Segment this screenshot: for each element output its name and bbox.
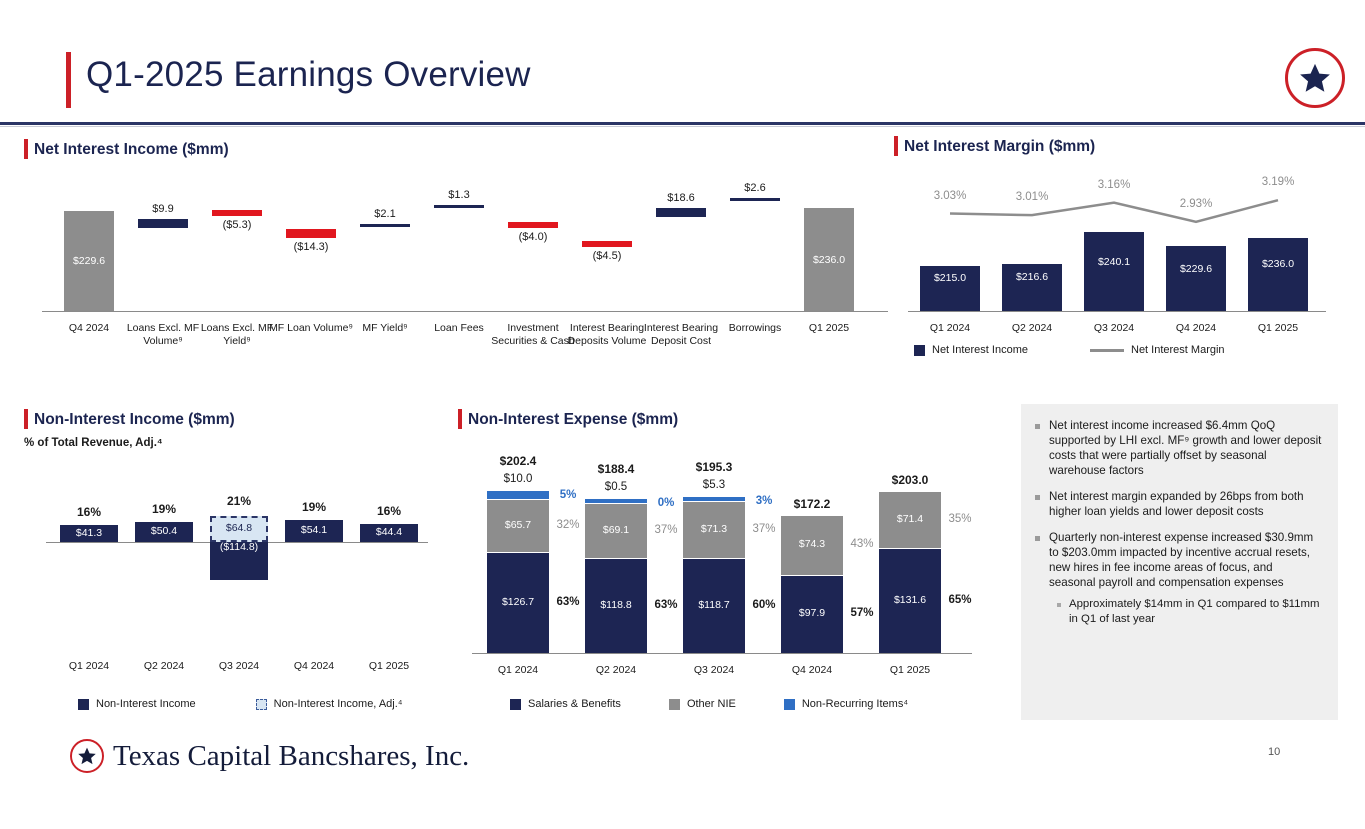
commentary-panel: Net interest income increased $6.4mm QoQ…	[1021, 404, 1338, 720]
nii-accent	[24, 139, 28, 159]
nii-bar-delta	[434, 205, 484, 208]
navy-swatch-icon	[78, 699, 89, 710]
nim-bar	[1166, 246, 1226, 311]
nie-category-label: Q4 2024	[767, 664, 857, 677]
nie-legend-label: Other NIE	[687, 698, 736, 710]
non-interest-income-title: Non-Interest Income ($mm)	[34, 411, 235, 429]
nie-pct-nonrecurring: 0%	[649, 497, 683, 509]
nii-bar-delta	[286, 229, 336, 238]
nie-seg-nonrecurring	[487, 491, 549, 499]
nie-seg-value: $65.7	[487, 519, 549, 531]
commentary-bullet: Net interest income increased $6.4mm QoQ…	[1035, 418, 1322, 478]
nie-category-label: Q1 2024	[473, 664, 563, 677]
nie-total-label: $202.4	[477, 454, 559, 468]
nie-nonrecurring-label: $5.3	[675, 479, 753, 491]
nim-bar-value: $236.0	[1248, 258, 1308, 270]
nim-bar-value: $216.6	[1002, 271, 1062, 283]
nii2-category-label: Q2 2024	[127, 660, 201, 673]
nii-delta-label: ($4.0)	[498, 231, 568, 243]
nim-margin-label: 2.93%	[1158, 198, 1234, 210]
nii2-legend-label: Non-Interest Income, Adj.⁴	[274, 698, 403, 710]
nie-pct-salaries: 63%	[649, 599, 683, 611]
nii2-legend-label: Non-Interest Income	[96, 698, 196, 710]
nim-axis	[908, 311, 1326, 312]
gray-line-icon	[1090, 349, 1124, 352]
nie-category-label: Q1 2025	[865, 664, 955, 677]
nie-total-label: $203.0	[869, 473, 951, 487]
nii-section-title: Net Interest Income ($mm)	[34, 141, 229, 159]
nii2-pct-label: 21%	[210, 494, 268, 508]
nie-nonrecurring-label: $10.0	[479, 473, 557, 485]
nii2-category-label: Q3 2024	[202, 660, 276, 673]
commentary-bullet-text: Net interest income increased $6.4mm QoQ…	[1049, 418, 1322, 478]
title-accent-bar	[66, 52, 71, 108]
nie-legend: Salaries & BenefitsOther NIENon-Recurrin…	[510, 698, 934, 710]
nie-seg-value: $71.4	[879, 513, 941, 525]
nie-pct-salaries: 57%	[845, 607, 879, 619]
nim-category-label: Q1 2024	[912, 322, 988, 335]
nie-category-label: Q3 2024	[669, 664, 759, 677]
nii-bar-delta	[360, 224, 410, 227]
nie-seg-nonrecurring	[683, 497, 745, 501]
nim-category-label: Q3 2024	[1076, 322, 1152, 335]
header-divider-light	[0, 126, 1365, 127]
nie-seg-nonrecurring	[585, 499, 647, 503]
nii-delta-label: $9.9	[128, 203, 198, 215]
nii2-legend-item: Non-Interest Income	[78, 698, 196, 710]
nii-axis	[42, 311, 888, 312]
nie-legend-item: Non-Recurring Items⁴	[784, 698, 908, 710]
nii-bar-delta	[730, 198, 780, 201]
nii-delta-label: $2.6	[720, 182, 790, 194]
nie-pct-other: 32%	[551, 519, 585, 531]
nii2-category-label: Q4 2024	[277, 660, 351, 673]
nie-category-label: Q2 2024	[571, 664, 661, 677]
nii2-legend-item-adj: Non-Interest Income, Adj.⁴	[256, 698, 403, 710]
nie-pct-other: 35%	[943, 513, 977, 525]
nie-legend-label: Non-Recurring Items⁴	[802, 698, 908, 710]
slide: Q1-2025 Earnings Overview Net Interest I…	[0, 0, 1365, 829]
bullet-marker-icon	[1035, 424, 1040, 429]
nii-delta-label: $2.1	[350, 208, 420, 220]
nie-seg-value: $71.3	[683, 523, 745, 535]
nii2-legend: Non-Interest IncomeNon-Interest Income, …	[78, 698, 429, 710]
nie-total-label: $172.2	[771, 497, 853, 511]
nim-legend-item-income: Net Interest Income	[914, 344, 1028, 356]
nie-legend-label: Salaries & Benefits	[528, 698, 621, 710]
nii-delta-label: $1.3	[424, 189, 494, 201]
nii-category-label: Q1 2025	[786, 322, 872, 335]
nim-category-label: Q1 2025	[1240, 322, 1316, 335]
non-interest-income-subtitle: % of Total Revenue, Adj.⁴	[24, 437, 163, 449]
nii2-pct-label: 16%	[60, 505, 118, 519]
nie-pct-salaries: 60%	[747, 599, 781, 611]
commentary-bullets: Net interest income increased $6.4mm QoQ…	[1021, 404, 1338, 627]
nii-delta-label: ($5.3)	[202, 219, 272, 231]
commentary-bullet-text: Net interest margin expanded by 26bps fr…	[1049, 489, 1322, 519]
nie-pct-salaries: 65%	[943, 594, 977, 606]
nii-delta-label: ($14.3)	[276, 241, 346, 253]
nii2-category-label: Q1 2024	[52, 660, 126, 673]
slide-header: Q1-2025 Earnings Overview	[0, 0, 1365, 124]
nii2-pct-label: 19%	[285, 500, 343, 514]
nii2-bar-value: $41.3	[60, 527, 118, 539]
gray-swatch-icon	[669, 699, 680, 710]
non-interest-expense-title: Non-Interest Expense ($mm)	[468, 411, 678, 429]
nim-legend-label: Net Interest Margin	[1131, 344, 1225, 356]
brand-star-logo-icon	[1285, 48, 1345, 108]
nim-category-label: Q2 2024	[994, 322, 1070, 335]
nii2-accent	[24, 409, 28, 429]
page-number: 10	[1268, 746, 1280, 758]
nim-legend-item-margin: Net Interest Margin	[1090, 344, 1225, 356]
page-title: Q1-2025 Earnings Overview	[86, 55, 531, 95]
nie-seg-value: $69.1	[585, 524, 647, 536]
nie-pct-other: 37%	[747, 523, 781, 535]
nii2-bar-value: $44.4	[360, 526, 418, 538]
nie-total-label: $188.4	[575, 462, 657, 476]
nii-bar-value: $236.0	[804, 254, 854, 266]
bullet-marker-icon	[1035, 495, 1040, 500]
nim-margin-label: 3.19%	[1240, 176, 1316, 188]
nie-nonrecurring-label: $0.5	[577, 481, 655, 493]
nie-axis	[472, 653, 972, 654]
nie-legend-item: Other NIE	[669, 698, 736, 710]
nie-seg-value: $118.8	[585, 599, 647, 611]
nii2-bar-value: ($114.8)	[210, 541, 268, 553]
navy-swatch-icon	[914, 345, 925, 356]
footer-logo: Texas Capital Bancshares, Inc.	[70, 739, 469, 773]
commentary-sub-bullet-text: Approximately $14mm in Q1 compared to $1…	[1069, 597, 1322, 627]
commentary-bullet-text: Quarterly non-interest expense increased…	[1049, 530, 1322, 590]
nie-pct-salaries: 63%	[551, 596, 585, 608]
nii2-category-label: Q1 2025	[352, 660, 426, 673]
sub-bullet-marker-icon	[1057, 603, 1061, 607]
nim-category-label: Q4 2024	[1158, 322, 1234, 335]
nii2-bar-value: $54.1	[285, 524, 343, 536]
nie-seg-value: $74.3	[781, 538, 843, 550]
nii-bar-delta	[138, 219, 188, 228]
nie-accent	[458, 409, 462, 429]
nii2-pct-label: 19%	[135, 502, 193, 516]
nim-margin-label: 3.01%	[994, 191, 1070, 203]
header-divider	[0, 122, 1365, 125]
navy-swatch-icon	[510, 699, 521, 710]
nii-bar-value: $229.6	[64, 255, 114, 267]
nie-seg-value: $131.6	[879, 594, 941, 606]
nii2-bar-value: $50.4	[135, 525, 193, 537]
commentary-bullet: Net interest margin expanded by 26bps fr…	[1035, 489, 1322, 519]
nii-bar-delta	[508, 222, 558, 228]
nii2-bar-adjusted-value: $64.8	[210, 522, 268, 534]
dashed-swatch-icon	[256, 699, 267, 710]
nie-total-label: $195.3	[673, 460, 755, 474]
nim-margin-label: 3.03%	[912, 190, 988, 202]
nim-margin-label: 3.16%	[1076, 179, 1152, 191]
blue-swatch-icon	[784, 699, 795, 710]
nim-bar-value: $229.6	[1166, 263, 1226, 275]
nim-bar-value: $240.1	[1084, 256, 1144, 268]
footer-star-icon	[70, 739, 104, 773]
nie-seg-value: $126.7	[487, 596, 549, 608]
nii-bar-delta	[212, 210, 262, 216]
nim-legend-label: Net Interest Income	[932, 344, 1028, 356]
nim-accent	[894, 136, 898, 156]
nii2-pct-label: 16%	[360, 504, 418, 518]
commentary-sub-bullet: Approximately $14mm in Q1 compared to $1…	[1057, 597, 1322, 627]
nie-legend-item: Salaries & Benefits	[510, 698, 621, 710]
company-name: Texas Capital Bancshares, Inc.	[113, 740, 469, 773]
nie-pct-other: 43%	[845, 538, 879, 550]
nim-section-title: Net Interest Margin ($mm)	[904, 138, 1095, 156]
nim-legend: Net Interest IncomeNet Interest Margin	[914, 344, 1251, 356]
nie-seg-value: $118.7	[683, 599, 745, 611]
nim-bar-value: $215.0	[920, 272, 980, 284]
nii-delta-label: $18.6	[646, 192, 716, 204]
nii-bar-delta	[582, 241, 632, 247]
nii-bar-delta	[656, 208, 706, 217]
commentary-bullet: Quarterly non-interest expense increased…	[1035, 530, 1322, 590]
bullet-marker-icon	[1035, 536, 1040, 541]
nie-seg-value: $97.9	[781, 607, 843, 619]
nii-delta-label: ($4.5)	[572, 250, 642, 262]
nie-pct-other: 37%	[649, 524, 683, 536]
